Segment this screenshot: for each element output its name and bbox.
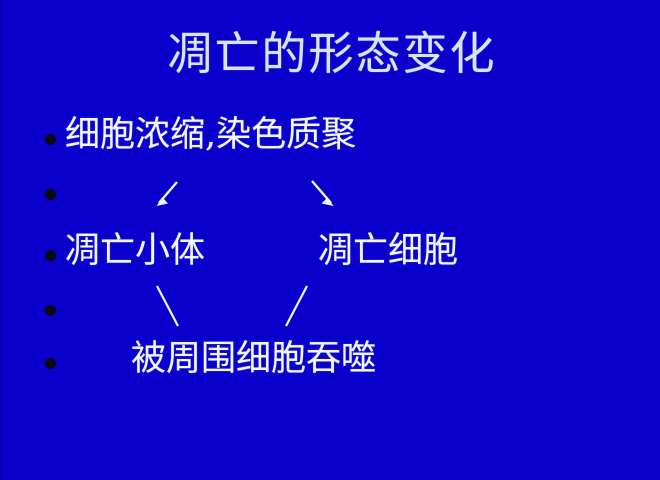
bullet-point-icon	[45, 189, 56, 200]
bullet-point-icon	[45, 250, 56, 261]
diagonal-line-down-right-icon	[157, 286, 178, 326]
bullet-line-3-text-right: 凋亡细胞	[318, 234, 458, 269]
bullet-point-icon	[45, 305, 56, 316]
bullet-point-icon	[45, 134, 56, 145]
arrow-down-right-icon	[312, 181, 334, 206]
presentation-slide: 凋亡的形态变化 细胞浓缩,染色质聚 凋亡小体 凋亡细胞 被周围细胞吞噬	[0, 0, 660, 480]
bullet-line-3-text-left: 凋亡小体	[65, 234, 205, 269]
arrow-down-left-icon	[157, 182, 178, 206]
diagonal-line-up-right-icon	[286, 286, 307, 326]
bullet-point-icon	[45, 358, 56, 369]
bullet-line-5-text: 被周围细胞吞噬	[131, 342, 376, 377]
bullet-line-1-text: 细胞浓缩,染色质聚	[65, 118, 356, 153]
slide-title: 凋亡的形态变化	[2, 26, 660, 82]
